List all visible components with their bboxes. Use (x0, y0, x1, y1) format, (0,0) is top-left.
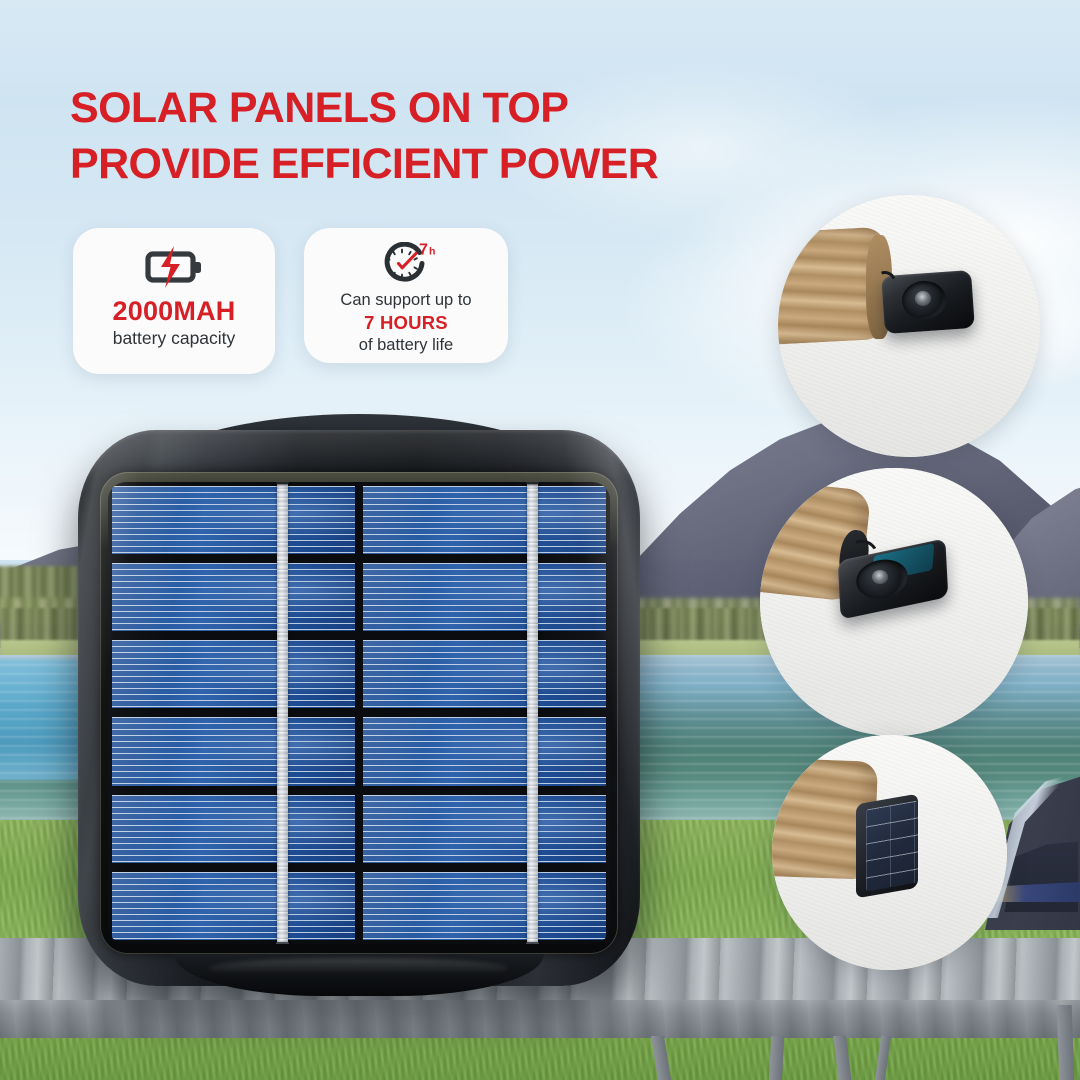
solar-cell (363, 872, 606, 940)
battery-capacity-value: 2000MAH (113, 296, 236, 326)
solar-cell-array (108, 482, 610, 944)
solar-cell (363, 563, 606, 631)
feature-card-battery-life[interactable]: 7 h Can support up to 7 HOURS of battery… (304, 228, 508, 363)
battery-capacity-caption: battery capacity (113, 327, 236, 349)
battery-charging-icon (143, 245, 205, 289)
feature-cards: 2000MAH battery capacity (73, 228, 508, 374)
solar-panel-product (78, 430, 640, 986)
product-marketing-image: SOLAR PANELS ON TOP PROVIDE EFFICIENT PO… (0, 0, 1080, 1080)
inset-umbrella-canopy-with-power-unit (778, 195, 1040, 457)
feature-card-battery-capacity[interactable]: 2000MAH battery capacity (73, 228, 275, 374)
page-headline: SOLAR PANELS ON TOP PROVIDE EFFICIENT PO… (70, 80, 770, 192)
power-unit-hub (872, 570, 888, 584)
solar-cell (112, 795, 355, 863)
table-edge-texture (0, 1000, 1080, 1038)
headline-line-1: SOLAR PANELS ON TOP (70, 80, 770, 136)
solar-cell (112, 872, 355, 940)
solar-cell (363, 640, 606, 708)
panel-base-highlight (208, 958, 508, 978)
svg-text:h: h (429, 246, 435, 258)
solar-cell (363, 486, 606, 554)
solar-cell (112, 486, 355, 554)
busbar-terminal (276, 942, 289, 944)
busbar-terminal (526, 942, 539, 944)
battery-life-line-3: of battery life (359, 335, 453, 356)
solar-cell (112, 640, 355, 708)
table-leg (769, 1036, 785, 1080)
clock-7h-icon: 7 h (372, 242, 440, 286)
solar-cell (112, 563, 355, 631)
power-unit-hub (915, 291, 931, 306)
headline-line-2: PROVIDE EFFICIENT POWER (70, 136, 770, 192)
solar-cell (112, 717, 355, 785)
solar-cell (363, 717, 606, 785)
inset-power-unit-with-teal-cell (760, 468, 1028, 736)
busbar-terminal (276, 482, 289, 484)
battery-life-highlight: 7 HOURS (364, 311, 448, 335)
svg-text:7: 7 (419, 242, 428, 259)
busbar (277, 482, 288, 944)
table-leg (1057, 1005, 1075, 1080)
busbar (527, 482, 538, 944)
solar-cell (363, 795, 606, 863)
inset-canopy-with-solar-panel (772, 735, 1007, 970)
battery-life-line-1: Can support up to (340, 290, 471, 311)
busbar-terminal (526, 482, 539, 484)
mini-solar-panel (866, 800, 918, 891)
